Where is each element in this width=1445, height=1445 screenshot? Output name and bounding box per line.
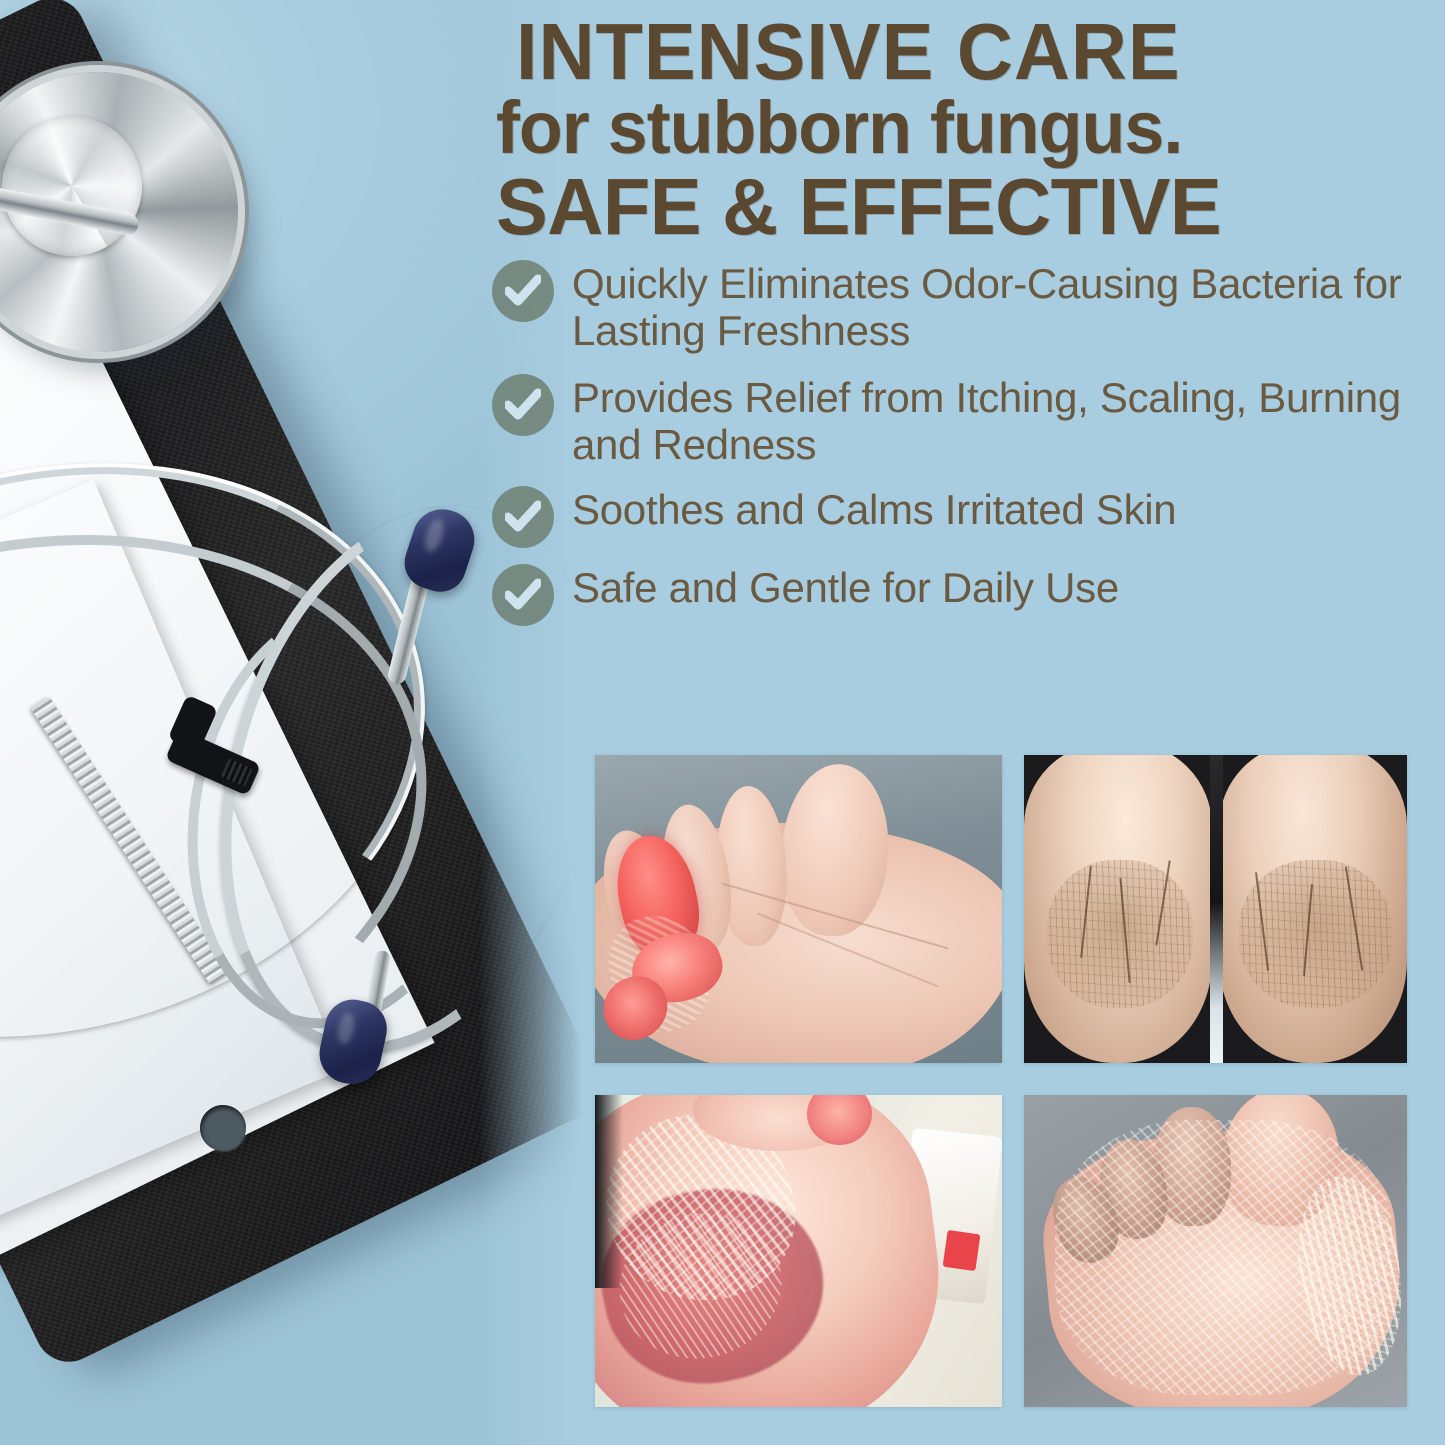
foot-condition-photo-1 (595, 755, 1002, 1063)
foot-condition-photo-2 (1024, 755, 1407, 1063)
check-circle-icon (492, 260, 554, 322)
stethoscope-chestpiece-diaphragm (2, 116, 142, 256)
benefit-label: Quickly Eliminates Odor-Causing Bacteria… (572, 258, 1445, 354)
foot-condition-photo-3 (595, 1095, 1002, 1407)
headline-line-1: INTENSIVE CARE (516, 14, 1407, 89)
foot-condition-photo-4 (1024, 1095, 1407, 1407)
check-circle-icon (492, 374, 554, 436)
list-item: Provides Relief from Itching, Scaling, B… (492, 372, 1445, 468)
condition-photo-grid (595, 755, 1407, 1407)
content-column: INTENSIVE CARE for stubborn fungus. SAFE… (484, 0, 1445, 1445)
check-circle-icon (492, 486, 554, 548)
list-item: Soothes and Calms Irritated Skin (492, 484, 1445, 548)
list-item: Safe and Gentle for Daily Use (492, 562, 1445, 626)
benefit-label: Soothes and Calms Irritated Skin (572, 484, 1176, 533)
headline-line-2: for stubborn fungus. (496, 93, 1407, 163)
check-circle-icon (492, 564, 554, 626)
list-item: Quickly Eliminates Odor-Causing Bacteria… (492, 258, 1445, 354)
headline-line-3: SAFE & EFFECTIVE (496, 169, 1407, 244)
product-feature-banner: INTENSIVE CARE for stubborn fungus. SAFE… (0, 0, 1445, 1445)
benefit-label: Provides Relief from Itching, Scaling, B… (572, 372, 1445, 468)
benefits-list: Quickly Eliminates Odor-Causing Bacteria… (484, 258, 1445, 626)
page-title: INTENSIVE CARE for stubborn fungus. SAFE… (484, 0, 1445, 244)
benefit-label: Safe and Gentle for Daily Use (572, 562, 1119, 611)
